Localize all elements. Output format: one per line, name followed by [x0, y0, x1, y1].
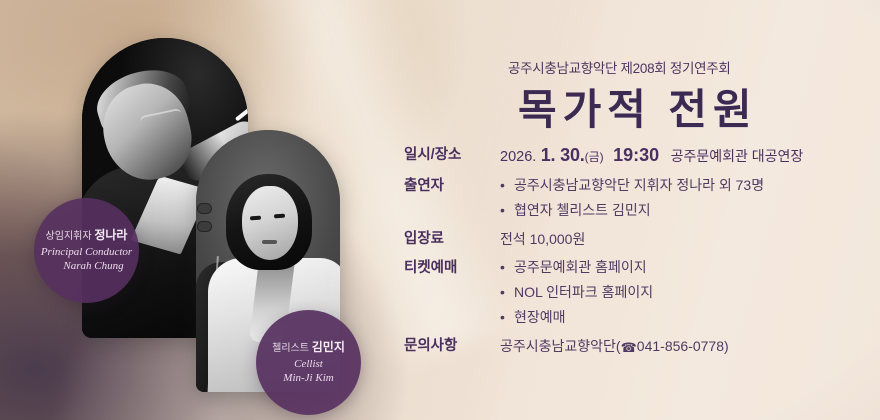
list-item: 공주시충남교향악단 지휘자 정나라 외 73명 — [500, 173, 764, 198]
concert-poster: ⓒ sunhee.park 상임지휘자 정나라 Principal Conduc… — [0, 0, 880, 420]
date-monthday: 1. 30. — [541, 145, 585, 165]
conductor-badge-english: Principal Conductor Narah Chung — [41, 246, 132, 274]
cellist-role-en: Cellist — [294, 358, 323, 370]
poster-content: 공주시충남교향악단 제208회 정기연주회 목가적 전원 일시/장소 2026.… — [404, 0, 880, 420]
list-item: 협연자 첼리스트 김민지 — [500, 198, 764, 223]
cellist-lips — [262, 240, 277, 244]
value-price: 전석 10,000원 — [490, 226, 585, 252]
label-ticketing: 티켓예매 — [404, 255, 490, 281]
cellist-eye-right — [274, 214, 285, 219]
cello-peg — [198, 204, 211, 213]
list-item[interactable]: 공주문예회관 홈페이지 — [500, 255, 653, 280]
cello-peg — [198, 222, 211, 231]
list-item[interactable]: NOL 인터파크 홈페이지 — [500, 280, 653, 305]
ticketing-list: 공주문예회관 홈페이지 NOL 인터파크 홈페이지 현장예매 — [490, 255, 653, 330]
date-dayofweek: (금) — [585, 150, 604, 164]
info-row-price: 입장료 전석 10,000원 — [404, 226, 880, 252]
event-time: 19:30 — [613, 145, 659, 165]
cellist-name-en: Min-Ji Kim — [283, 372, 333, 386]
list-item: 현장예매 — [500, 305, 653, 330]
conductor-name-badge: 상임지휘자 정나라 Principal Conductor Narah Chun… — [34, 198, 139, 303]
performers-list: 공주시충남교향악단 지휘자 정나라 외 73명 협연자 첼리스트 김민지 — [490, 173, 764, 223]
date-year: 2026. — [500, 149, 536, 165]
conductor-role-ko: 상임지휘자 — [46, 231, 92, 242]
inquiry-phone-number[interactable]: 041-856-0778 — [637, 338, 724, 354]
event-venue: 공주문예회관 대공연장 — [671, 148, 804, 164]
inquiry-organization: 공주시충남교향악단( — [500, 338, 621, 354]
concert-title: 목가적 전원 — [518, 76, 758, 137]
info-table: 일시/장소 2026. 1. 30.(금) 19:30 공주문예회관 대공연장 … — [404, 142, 880, 363]
info-row-ticketing: 티켓예매 공주문예회관 홈페이지 NOL 인터파크 홈페이지 현장예매 — [404, 255, 880, 330]
conductor-baton — [235, 83, 248, 122]
conductor-name-en: Narah Chung — [41, 260, 132, 274]
cellist-name-badge: 첼리스트 김민지 Cellist Min-Ji Kim — [256, 310, 361, 415]
value-datetime: 2026. 1. 30.(금) 19:30 공주문예회관 대공연장 — [490, 142, 803, 170]
value-inquiry: 공주시충남교향악단(☎041-856-0778) — [490, 333, 729, 360]
conductor-badge-korean: 상임지휘자 정나라 — [46, 228, 128, 244]
cellist-eye-left — [250, 216, 261, 221]
label-performers: 출연자 — [404, 173, 490, 199]
photo-credit-watermark: ⓒ sunhee.park — [324, 270, 333, 317]
cellist-badge-english: Cellist Min-Ji Kim — [283, 358, 333, 386]
cellist-face — [242, 186, 298, 260]
phone-icon: ☎ — [621, 335, 637, 361]
conductor-name-ko: 정나라 — [94, 228, 127, 242]
label-inquiry: 문의사항 — [404, 333, 490, 359]
cellist-name-ko: 김민지 — [312, 340, 345, 354]
conductor-role-en: Principal Conductor — [41, 246, 132, 258]
cellist-badge-korean: 첼리스트 김민지 — [272, 340, 345, 356]
info-row-datetime: 일시/장소 2026. 1. 30.(금) 19:30 공주문예회관 대공연장 — [404, 142, 880, 170]
inquiry-close-paren: ) — [724, 338, 729, 354]
concert-series-kicker: 공주시충남교향악단 제208회 정기연주회 — [508, 57, 730, 77]
info-row-inquiry: 문의사항 공주시충남교향악단(☎041-856-0778) — [404, 333, 880, 360]
label-datetime: 일시/장소 — [404, 142, 490, 168]
label-price: 입장료 — [404, 226, 490, 252]
info-row-performers: 출연자 공주시충남교향악단 지휘자 정나라 외 73명 협연자 첼리스트 김민지 — [404, 173, 880, 223]
cellist-role-ko: 첼리스트 — [272, 343, 309, 354]
